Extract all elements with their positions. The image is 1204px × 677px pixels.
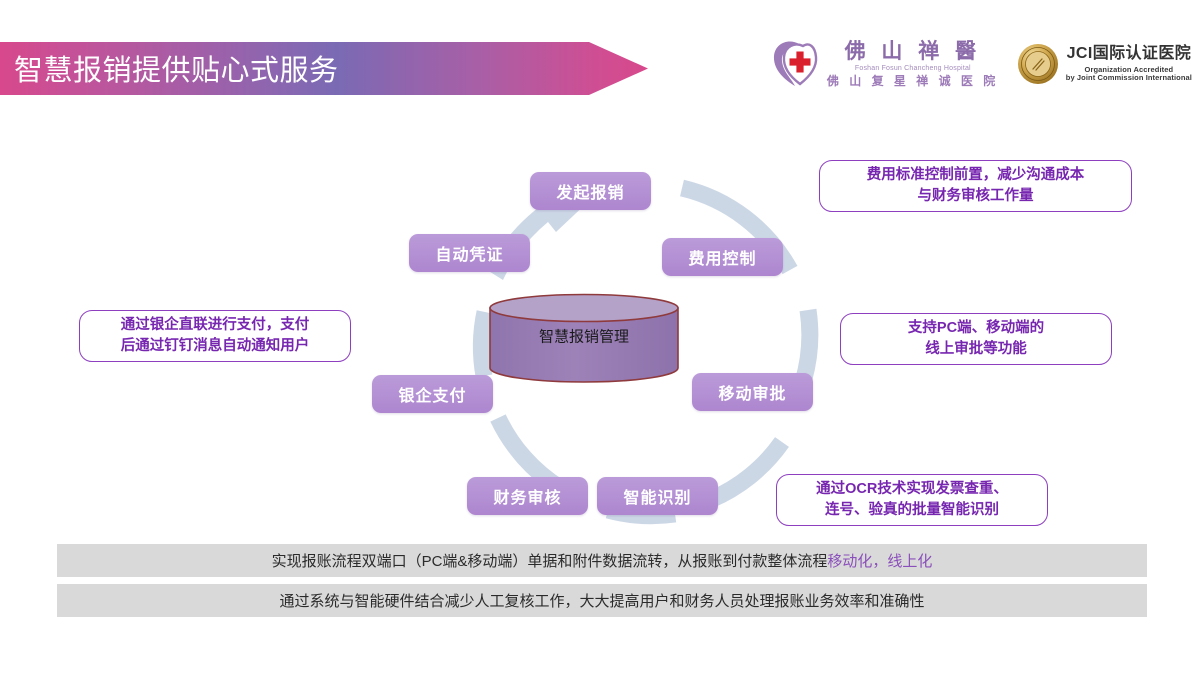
callout-line1: 通过银企直联进行支付，支付 [121,315,310,336]
callout-line2: 线上审批等功能 [908,339,1044,360]
stage-label: 移动审批 [718,380,786,404]
stage-ai-recognition[interactable]: 智能识别 [597,477,718,515]
summary-text: 通过系统与智能硬件结合减少人工复核工作，大大提高用户和财务人员处理报账业务效率和… [279,590,924,611]
callout-line1: 费用标准控制前置，减少沟通成本 [867,165,1085,186]
summary-bar-efficiency: 通过系统与智能硬件结合减少人工复核工作，大大提高用户和财务人员处理报账业务效率和… [57,584,1147,617]
callout-pc-mobile-support: 支持PC端、移动端的 线上审批等功能 [840,313,1112,365]
stage-auto-voucher[interactable]: 自动凭证 [409,234,530,272]
stage-label: 智能识别 [623,484,691,508]
callout-line1: 支持PC端、移动端的 [908,318,1044,339]
stage-cost-control[interactable]: 费用控制 [662,238,783,276]
stage-initiate[interactable]: 发起报销 [530,172,651,210]
center-label: 智慧报销管理 [487,326,681,347]
callout-line2: 与财务审核工作量 [867,186,1085,207]
summary-bars: 实现报账流程双端口（PC端&移动端）单据和附件数据流转，从报账到付款整体流程移动… [57,544,1147,617]
stage-bank-payment[interactable]: 银企支付 [372,375,493,413]
callout-bank-direct-pay: 通过银企直联进行支付，支付 后通过钉钉消息自动通知用户 [79,310,351,362]
callout-line2: 后通过钉钉消息自动通知用户 [121,336,310,357]
summary-highlight: 移动化，线上化 [827,550,932,571]
stage-mobile-approval[interactable]: 移动审批 [692,373,813,411]
stage-label: 发起报销 [556,179,624,203]
stage-label: 费用控制 [688,245,756,269]
callout-ocr-recognition: 通过OCR技术实现发票查重、 连号、验真的批量智能识别 [776,474,1048,526]
stage-finance-review[interactable]: 财务审核 [467,477,588,515]
summary-bar-flow: 实现报账流程双端口（PC端&移动端）单据和附件数据流转，从报账到付款整体流程移动… [57,544,1147,577]
stage-label: 财务审核 [493,484,561,508]
callout-line1: 通过OCR技术实现发票查重、 [816,479,1008,500]
summary-text: 实现报账流程双端口（PC端&移动端）单据和附件数据流转，从报账到付款整体流程 [272,550,828,571]
callout-line2: 连号、验真的批量智能识别 [816,500,1008,521]
stage-label: 自动凭证 [435,241,503,265]
center-cylinder: 智慧报销管理 [487,293,681,383]
callout-cost-standard: 费用标准控制前置，减少沟通成本 与财务审核工作量 [819,160,1132,212]
stage-label: 银企支付 [398,382,466,406]
page-title: 智慧报销提供贴心式服务 [14,47,339,89]
